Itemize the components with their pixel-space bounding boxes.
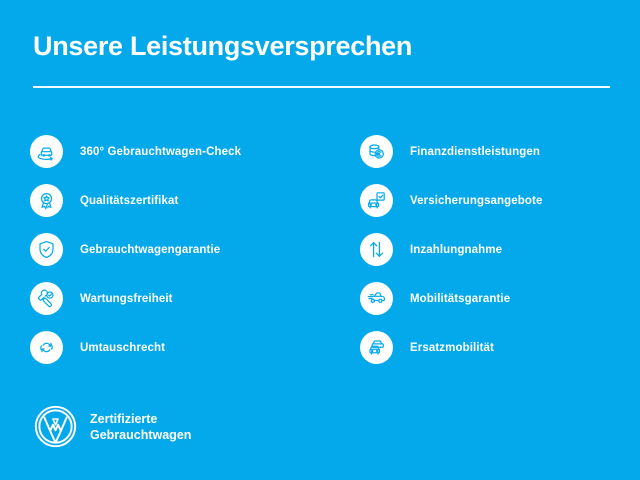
arrows-up-down-icon: [360, 233, 393, 266]
promise-item: 360° Gebrauchtwagen-Check: [30, 127, 350, 176]
two-cars-icon: [360, 331, 393, 364]
award-rosette-icon: [30, 184, 63, 217]
car-motion-icon: [360, 282, 393, 315]
header-divider: [33, 86, 610, 88]
promise-label: Ersatzmobilität: [410, 341, 494, 355]
shield-check-icon: [30, 233, 63, 266]
promise-column-left: 360° Gebrauchtwagen-Check Qualitätszerti…: [30, 127, 350, 372]
promise-item: Finanzdienstleistungen: [360, 127, 630, 176]
slide-root: Unsere Leistungsversprechen 360° Gebrauc…: [0, 0, 640, 480]
footer-text: Zertifizierte Gebrauchtwagen: [90, 411, 191, 443]
promise-label: Qualitätszertifikat: [80, 194, 178, 208]
promise-item: Wartungsfreiheit: [30, 274, 350, 323]
promise-label: 360° Gebrauchtwagen-Check: [80, 145, 241, 159]
coins-euro-icon: [360, 135, 393, 168]
promise-label: Wartungsfreiheit: [80, 292, 173, 306]
promise-item: Umtauschrecht: [30, 323, 350, 372]
promise-label: Gebrauchtwagengarantie: [80, 243, 220, 257]
footer-lockup: Zertifizierte Gebrauchtwagen: [33, 404, 191, 449]
wrench-check-icon: [30, 282, 63, 315]
promise-label: Mobilitätsgarantie: [410, 292, 510, 306]
exchange-arrows-icon: [30, 331, 63, 364]
promise-item: Mobilitätsgarantie: [360, 274, 630, 323]
promise-item: Gebrauchtwagengarantie: [30, 225, 350, 274]
promise-item: Ersatzmobilität: [360, 323, 630, 372]
footer-line-1: Zertifizierte: [90, 411, 191, 427]
header: Unsere Leistungsversprechen: [33, 30, 611, 62]
promise-item: Inzahlungnahme: [360, 225, 630, 274]
page-title: Unsere Leistungsversprechen: [33, 30, 611, 62]
promise-label: Umtauschrecht: [80, 341, 165, 355]
footer-line-2: Gebrauchtwagen: [90, 427, 191, 443]
promise-item: Qualitätszertifikat: [30, 176, 350, 225]
promise-label: Inzahlungnahme: [410, 243, 502, 257]
car-document-check-icon: [360, 184, 393, 217]
promise-item: Versicherungsangebote: [360, 176, 630, 225]
car-360-check-icon: [30, 135, 63, 168]
volkswagen-roundel-icon: [33, 404, 78, 449]
promise-column-right: Finanzdienstleistungen Versicheru: [360, 127, 630, 372]
promise-columns: 360° Gebrauchtwagen-Check Qualitätszerti…: [0, 127, 640, 372]
promise-label: Finanzdienstleistungen: [410, 145, 540, 159]
promise-label: Versicherungsangebote: [410, 194, 542, 208]
